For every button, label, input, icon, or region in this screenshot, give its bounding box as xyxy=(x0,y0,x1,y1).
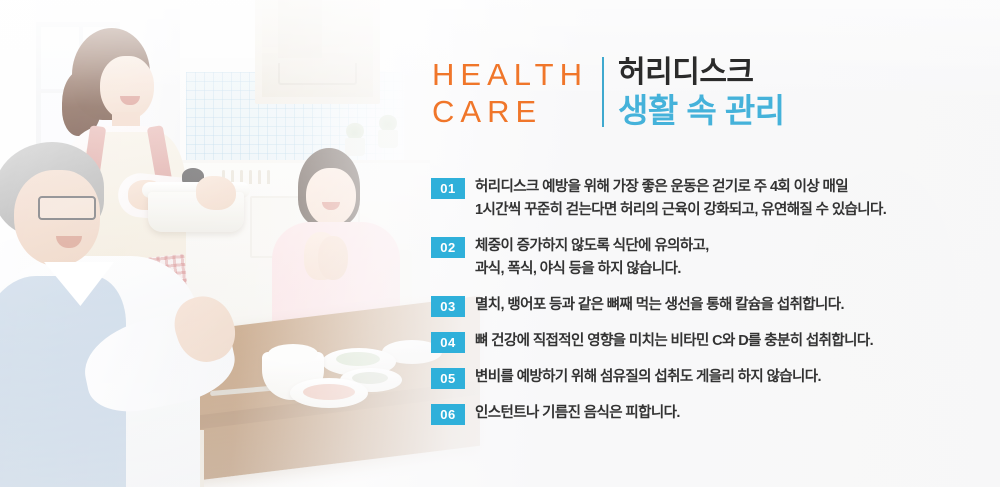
tip-item: 02체중이 증가하지 않도록 식단에 유의하고,과식, 폭식, 야식 등을 하지… xyxy=(431,235,976,281)
tip-text-line1: 인스턴트나 기름진 음식은 피합니다. xyxy=(475,405,680,421)
tip-text-line2: 1시간씩 꾸준히 걷는다면 허리의 근육이 강화되고, 유연해질 수 있습니다. xyxy=(475,199,886,222)
headline-korean-line1: 허리디스크 xyxy=(618,55,785,91)
tip-text: 뼈 건강에 직접적인 영향을 미치는 비타민 C와 D를 충분히 섭취합니다. xyxy=(475,330,873,353)
tip-number-badge: 05 xyxy=(431,368,465,389)
healthcare-banner: HEALTH CARE 허리디스크 생활 속 관리 01허리디스크 예방을 위해… xyxy=(0,0,1000,487)
tip-text-line1: 멸치, 뱅어포 등과 같은 뼈째 먹는 생선을 통해 칼슘을 섭취합니다. xyxy=(475,297,844,313)
tips-list: 01허리디스크 예방을 위해 가장 좋은 운동은 걷기로 주 4회 이상 매일1… xyxy=(431,176,976,425)
tip-text-line2: 과식, 폭식, 야식 등을 하지 않습니다. xyxy=(475,258,709,281)
tip-item: 05변비를 예방하기 위해 섬유질의 섭취도 게을리 하지 않습니다. xyxy=(431,366,976,389)
tip-text: 변비를 예방하기 위해 섬유질의 섭취도 게을리 하지 않습니다. xyxy=(475,366,821,389)
tip-text: 체중이 증가하지 않도록 식단에 유의하고,과식, 폭식, 야식 등을 하지 않… xyxy=(475,235,709,281)
headline-korean-line2: 생활 속 관리 xyxy=(618,91,785,131)
tip-text: 허리디스크 예방을 위해 가장 좋은 운동은 걷기로 주 4회 이상 매일1시간… xyxy=(475,176,886,222)
tip-number-badge: 06 xyxy=(431,404,465,425)
tip-text-line1: 변비를 예방하기 위해 섬유질의 섭취도 게을리 하지 않습니다. xyxy=(475,369,821,385)
tip-number-badge: 01 xyxy=(431,178,465,199)
tip-item: 04뼈 건강에 직접적인 영향을 미치는 비타민 C와 D를 충분히 섭취합니다… xyxy=(431,330,976,353)
tip-text-line1: 허리디스크 예방을 위해 가장 좋은 운동은 걷기로 주 4회 이상 매일 xyxy=(475,179,848,195)
tip-number-badge: 02 xyxy=(431,237,465,258)
tip-number-badge: 04 xyxy=(431,332,465,353)
headline-health: HEALTH xyxy=(432,56,588,93)
tip-text: 인스턴트나 기름진 음식은 피합니다. xyxy=(475,402,680,425)
headline: HEALTH CARE 허리디스크 생활 속 관리 xyxy=(432,55,785,131)
headline-korean: 허리디스크 생활 속 관리 xyxy=(604,55,785,131)
headline-english: HEALTH CARE xyxy=(432,55,602,131)
tip-item: 03멸치, 뱅어포 등과 같은 뼈째 먹는 생선을 통해 칼슘을 섭취합니다. xyxy=(431,294,976,317)
tip-item: 01허리디스크 예방을 위해 가장 좋은 운동은 걷기로 주 4회 이상 매일1… xyxy=(431,176,976,222)
banner-content: HEALTH CARE 허리디스크 생활 속 관리 01허리디스크 예방을 위해… xyxy=(0,0,1000,487)
tip-text-line1: 체중이 증가하지 않도록 식단에 유의하고, xyxy=(475,238,709,254)
tip-number-badge: 03 xyxy=(431,296,465,317)
tip-item: 06인스턴트나 기름진 음식은 피합니다. xyxy=(431,402,976,425)
headline-care: CARE xyxy=(432,93,588,130)
tip-text-line1: 뼈 건강에 직접적인 영향을 미치는 비타민 C와 D를 충분히 섭취합니다. xyxy=(475,333,873,349)
tip-text: 멸치, 뱅어포 등과 같은 뼈째 먹는 생선을 통해 칼슘을 섭취합니다. xyxy=(475,294,844,317)
